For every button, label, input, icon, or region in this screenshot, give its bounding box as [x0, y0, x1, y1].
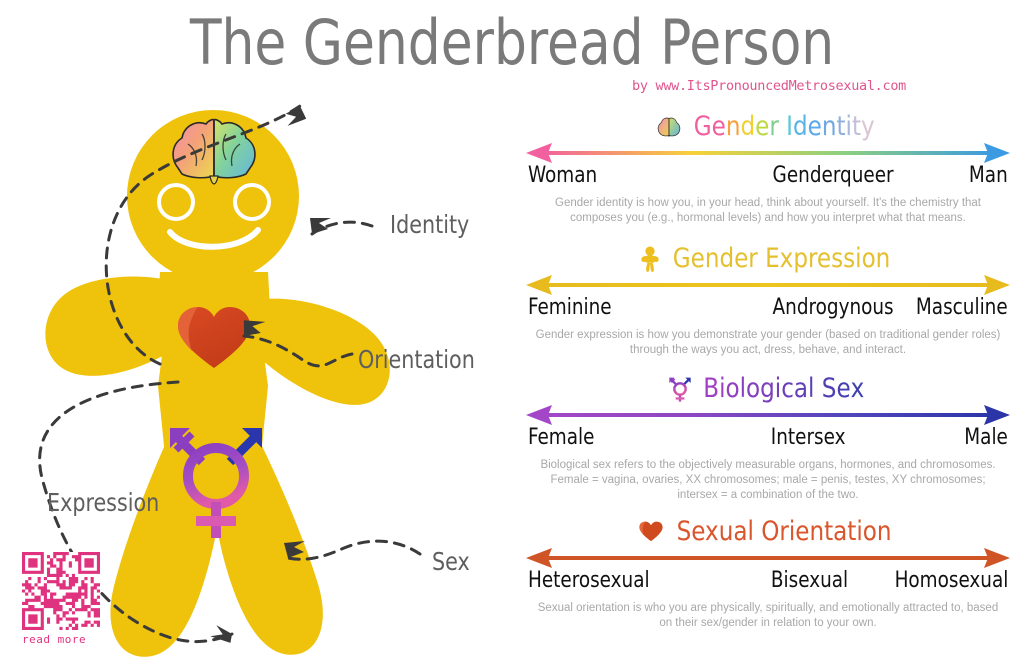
- label-orientation: Orientation: [358, 345, 475, 374]
- endpoint-mid-biological-sex: Intersex: [771, 425, 846, 450]
- label-sex: Sex: [432, 547, 470, 576]
- endpoint-left-biological-sex: Female: [528, 425, 594, 450]
- endpoint-right-gender-identity: Man: [969, 163, 1008, 188]
- label-identity: Identity: [390, 210, 469, 239]
- spectrum-heading-gender-identity: Gender Identity: [512, 112, 1024, 142]
- gingerbread-person-icon: [640, 246, 660, 272]
- spectrum-gender-expression: Gender Expression Feminine Androgynous M…: [512, 244, 1024, 358]
- heart-icon: [638, 521, 664, 543]
- byline-attribution: by www.ItsPronouncedMetrosexual.com: [632, 78, 906, 94]
- endpoint-right-biological-sex: Male: [964, 425, 1008, 450]
- spectrum-biological-sex: Biological Sex Female Intersex MaleBiolo…: [512, 374, 1024, 503]
- infographic-root: The Genderbread Person by www.ItsPronoun…: [0, 0, 1024, 662]
- brain-icon: [656, 116, 682, 138]
- heading-text-gender-expression: Gender Expression: [673, 244, 891, 274]
- endpoint-left-sexual-orientation: Heterosexual: [528, 568, 650, 593]
- spectrum-description-gender-expression: Gender expression is how you demonstrate…: [512, 325, 1024, 358]
- spectrum-description-sexual-orientation: Sexual orientation is who you are physic…: [512, 598, 1024, 631]
- rainbow-brain-icon: [173, 120, 255, 184]
- endpoint-mid-gender-expression: Androgynous: [773, 295, 894, 320]
- spectrum-column: Gender Identity Woman Genderqueer ManGen…: [512, 112, 1024, 631]
- spectrum-endpoints-biological-sex: Female Intersex Male: [512, 425, 1024, 455]
- qr-code-block[interactable]: read more: [22, 552, 106, 646]
- page-title: The Genderbread Person: [36, 6, 988, 79]
- spectrum-heading-sexual-orientation: Sexual Orientation: [512, 517, 1024, 547]
- spectrum-endpoints-sexual-orientation: Heterosexual Bisexual Homosexual: [512, 568, 1024, 598]
- label-expression: Expression: [47, 488, 159, 517]
- spectrum-endpoints-gender-expression: Feminine Androgynous Masculine: [512, 295, 1024, 325]
- qr-code-image[interactable]: [22, 552, 100, 630]
- spectrum-axis-biological-sex: [512, 405, 1024, 427]
- endpoint-mid-sexual-orientation: Bisexual: [771, 568, 848, 593]
- spectrum-sexual-orientation: Sexual Orientation Heterosexual Bisexual…: [512, 517, 1024, 631]
- endpoint-left-gender-expression: Feminine: [528, 295, 612, 320]
- spectrum-heading-biological-sex: Biological Sex: [512, 374, 1024, 404]
- spectrum-description-gender-identity: Gender identity is how you, in your head…: [512, 193, 1024, 226]
- endpoint-right-sexual-orientation: Homosexual: [894, 568, 1008, 593]
- endpoint-mid-gender-identity: Genderqueer: [773, 163, 894, 188]
- spectrum-gender-identity: Gender Identity Woman Genderqueer ManGen…: [512, 112, 1024, 226]
- heading-text-biological-sex: Biological Sex: [703, 374, 864, 404]
- qr-caption: read more: [22, 633, 106, 646]
- endpoint-left-gender-identity: Woman: [528, 163, 597, 188]
- endpoint-right-gender-expression: Masculine: [916, 295, 1008, 320]
- spectrum-axis-gender-expression: [512, 275, 1024, 297]
- spectrum-description-biological-sex: Biological sex refers to the objectively…: [512, 455, 1024, 503]
- transgender-symbol-icon: [668, 375, 692, 403]
- spectrum-endpoints-gender-identity: Woman Genderqueer Man: [512, 163, 1024, 193]
- heading-text-sexual-orientation: Sexual Orientation: [677, 517, 892, 547]
- spectrum-heading-gender-expression: Gender Expression: [512, 244, 1024, 274]
- spectrum-axis-sexual-orientation: [512, 548, 1024, 570]
- spectrum-axis-gender-identity: [512, 143, 1024, 165]
- heading-text-gender-identity: Gender Identity: [694, 112, 875, 142]
